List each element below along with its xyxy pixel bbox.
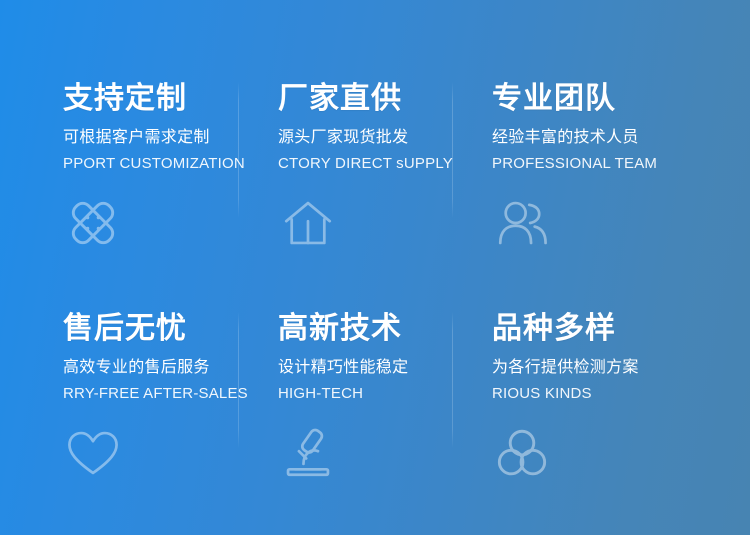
feature-title: 厂家直供: [278, 82, 478, 116]
feature-item-professional-team: 专业团队 经验丰富的技术人员 PROFESSIONAL TEAM: [492, 82, 692, 252]
feature-english-caption: HIGH-TECH: [278, 384, 478, 404]
feature-title: 品种多样: [492, 312, 692, 346]
feature-item-high-tech: 高新技术 设计精巧性能稳定 HIGH-TECH: [278, 312, 478, 482]
feature-english-caption: RRY-FREE AFTER-SALES: [63, 384, 263, 404]
two-people-icon: [492, 194, 552, 252]
feature-subtitle: 源头厂家现货批发: [278, 127, 478, 149]
feature-english-caption: CTORY DIRECT sUPPLY: [278, 154, 478, 174]
feature-subtitle: 可根据客户需求定制: [63, 127, 263, 149]
heart-icon: [63, 424, 123, 482]
feature-item-after-sales: 售后无忧 高效专业的售后服务 RRY-FREE AFTER-SALES: [63, 312, 263, 482]
feature-english-caption: PPORT CUSTOMIZATION: [63, 154, 263, 174]
feature-english-caption: PROFESSIONAL TEAM: [492, 154, 692, 174]
feature-title: 支持定制: [63, 82, 263, 116]
feature-english-caption: RIOUS KINDS: [492, 384, 692, 404]
feature-title: 高新技术: [278, 312, 478, 346]
feature-subtitle: 经验丰富的技术人员: [492, 127, 692, 149]
feature-title: 售后无忧: [63, 312, 263, 346]
feature-grid: 支持定制 可根据客户需求定制 PPORT CUSTOMIZATION 厂家直供 …: [0, 0, 750, 535]
feature-title: 专业团队: [492, 82, 692, 116]
three-circles-icon: [492, 424, 552, 482]
feature-subtitle: 设计精巧性能稳定: [278, 357, 478, 379]
crossed-bandage-icon: [63, 194, 123, 252]
house-icon: [278, 194, 338, 252]
feature-item-customization: 支持定制 可根据客户需求定制 PPORT CUSTOMIZATION: [63, 82, 263, 252]
feature-item-direct-supply: 厂家直供 源头厂家现货批发 CTORY DIRECT sUPPLY: [278, 82, 478, 252]
microscope-icon: [278, 424, 338, 482]
feature-subtitle: 高效专业的售后服务: [63, 357, 263, 379]
feature-item-various-kinds: 品种多样 为各行提供检测方案 RIOUS KINDS: [492, 312, 692, 482]
feature-subtitle: 为各行提供检测方案: [492, 357, 692, 379]
feature-banner: 支持定制 可根据客户需求定制 PPORT CUSTOMIZATION 厂家直供 …: [0, 0, 750, 535]
